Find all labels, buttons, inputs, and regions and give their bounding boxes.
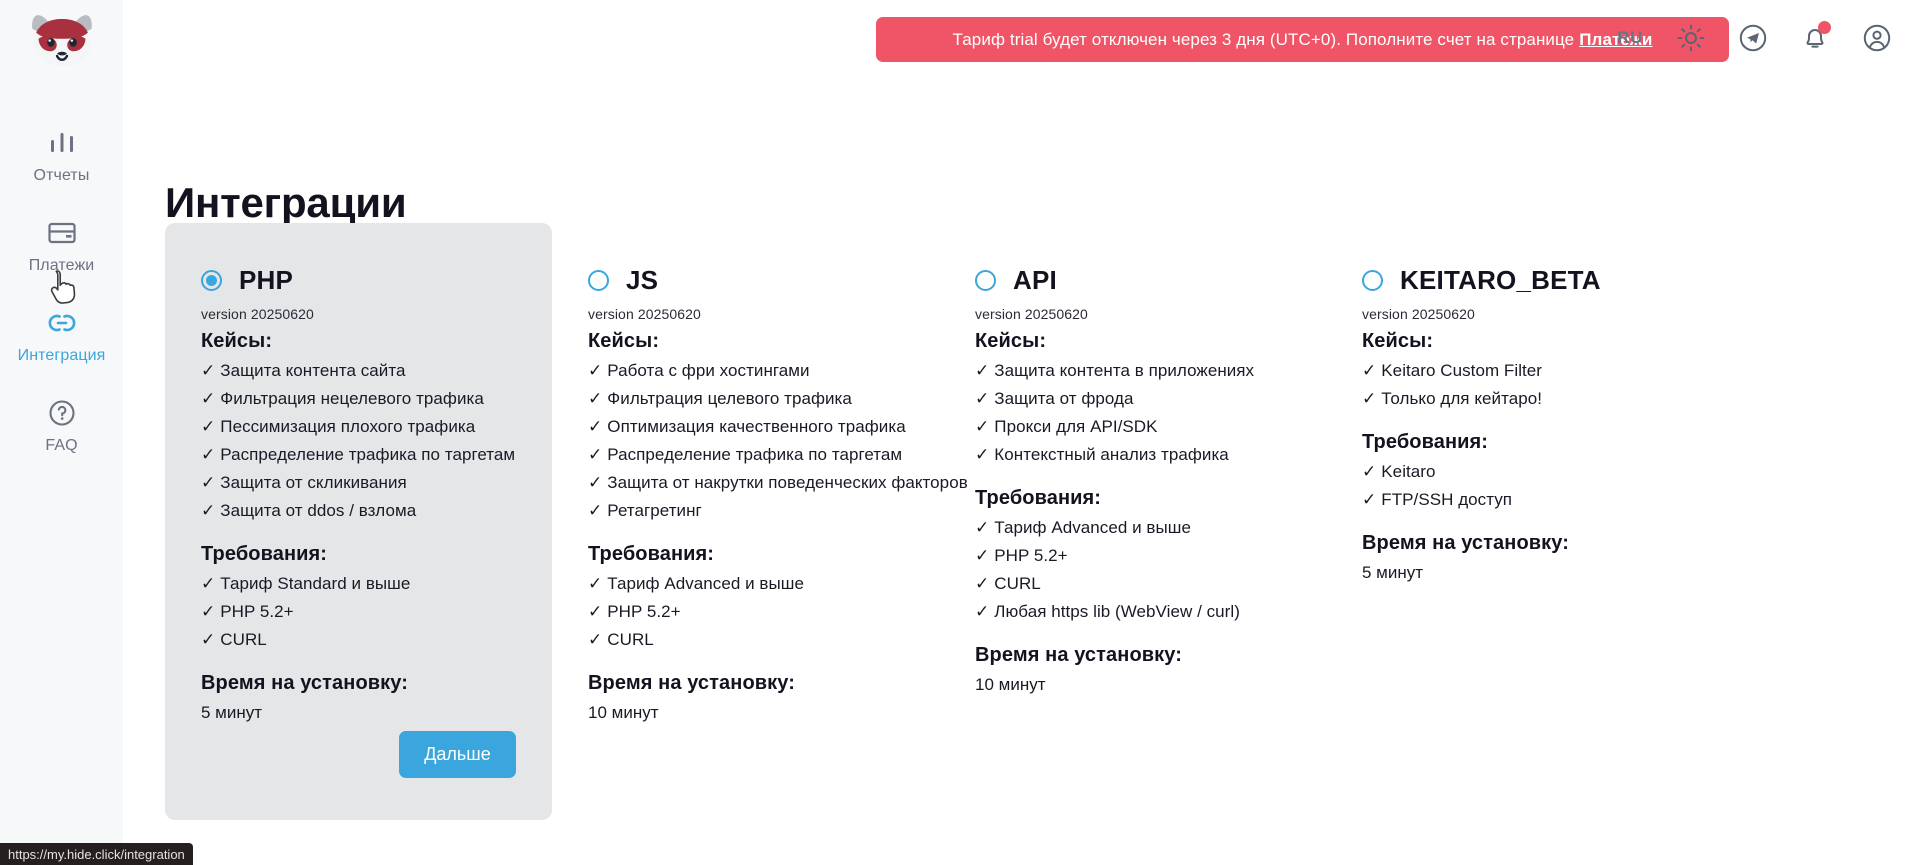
requirement-item: ✓CURL bbox=[588, 630, 903, 650]
requirement-item: ✓PHP 5.2+ bbox=[975, 546, 1290, 566]
case-item: ✓Работа с фри хостингами bbox=[588, 361, 903, 381]
requirement-item: ✓PHP 5.2+ bbox=[201, 602, 516, 622]
link-icon bbox=[45, 306, 79, 340]
card-header: KEITARO_BETA bbox=[1362, 265, 1677, 295]
notification-badge bbox=[1818, 21, 1831, 34]
sidebar-nav: Отчеты Платежи bbox=[0, 110, 123, 470]
case-item: ✓Распределение трафика по таргетам bbox=[588, 445, 903, 465]
case-item: ✓Защита контента сайта bbox=[201, 361, 516, 381]
requirement-item: ✓CURL bbox=[975, 574, 1290, 594]
requirement-item: ✓PHP 5.2+ bbox=[588, 602, 903, 622]
cases-heading: Кейсы: bbox=[201, 330, 516, 353]
question-circle-icon bbox=[45, 396, 79, 430]
sidebar-item-label: Платежи bbox=[29, 257, 95, 275]
card-version: version 20250620 bbox=[1362, 306, 1677, 322]
case-item: ✓Распределение трафика по таргетам bbox=[201, 445, 516, 465]
trial-alert-text: Тариф trial будет отключен через 3 дня (… bbox=[953, 30, 1575, 50]
sidebar-item-reports[interactable]: Отчеты bbox=[0, 110, 123, 200]
language-switcher[interactable]: RU bbox=[1617, 28, 1643, 48]
sidebar-item-label: Отчеты bbox=[34, 167, 90, 185]
integration-card-php[interactable]: PHP version 20250620 Кейсы: ✓Защита конт… bbox=[165, 223, 552, 820]
requirements-heading: Требования: bbox=[201, 543, 516, 566]
card-title: KEITARO_BETA bbox=[1400, 265, 1601, 296]
case-item: ✓Keitaro Custom Filter bbox=[1362, 361, 1677, 381]
card-version: version 20250620 bbox=[201, 306, 516, 322]
radio-php[interactable] bbox=[201, 270, 222, 291]
top-bar: Тариф trial будет отключен через 3 дня (… bbox=[123, 0, 1919, 75]
sidebar-item-integration[interactable]: Интеграция bbox=[0, 290, 123, 380]
install-time-heading: Время на установку: bbox=[1362, 532, 1677, 555]
requirement-item: ✓CURL bbox=[201, 630, 516, 650]
case-item: ✓Контекстный анализ трафика bbox=[975, 445, 1290, 465]
case-item: ✓Пессимизация плохого трафика bbox=[201, 417, 516, 437]
requirement-item: ✓Любая https lib (WebView / curl) bbox=[975, 602, 1290, 622]
app-root: Отчеты Платежи bbox=[0, 0, 1919, 865]
card-icon bbox=[45, 216, 79, 250]
case-item: ✓Защита контента в приложениях bbox=[975, 361, 1290, 381]
case-item: ✓Оптимизация качественного трафика bbox=[588, 417, 903, 437]
install-time-value: 5 минут bbox=[201, 703, 516, 723]
card-header: PHP bbox=[201, 265, 516, 295]
card-title: API bbox=[1013, 265, 1057, 296]
install-time-value: 10 минут bbox=[975, 675, 1290, 695]
case-item: ✓Защита от скликивания bbox=[201, 473, 516, 493]
case-item: ✓Только для кейтаро! bbox=[1362, 389, 1677, 409]
case-item: ✓Защита от фрода bbox=[975, 389, 1290, 409]
requirement-item: ✓Тариф Advanced и выше bbox=[588, 574, 903, 594]
install-time-heading: Время на установку: bbox=[975, 644, 1290, 667]
integration-card-js[interactable]: JS version 20250620 Кейсы: ✓Работа с фри… bbox=[552, 223, 939, 820]
integration-cards: PHP version 20250620 Кейсы: ✓Защита конт… bbox=[165, 223, 1919, 820]
card-header: JS bbox=[588, 265, 903, 295]
top-bar-actions: RU bbox=[1617, 0, 1891, 75]
card-version: version 20250620 bbox=[975, 306, 1290, 322]
install-time-value: 5 минут bbox=[1362, 563, 1677, 583]
requirements-heading: Требования: bbox=[1362, 431, 1677, 454]
requirement-item: ✓Тариф Standard и выше bbox=[201, 574, 516, 594]
case-item: ✓Прокси для API/SDK bbox=[975, 417, 1290, 437]
integration-card-keitaro-beta[interactable]: KEITARO_BETA version 20250620 Кейсы: ✓Ke… bbox=[1326, 223, 1713, 820]
bar-chart-icon bbox=[45, 126, 79, 160]
radio-js[interactable] bbox=[588, 270, 609, 291]
case-item: ✓Ретагретинг bbox=[588, 501, 903, 521]
trial-alert-banner: Тариф trial будет отключен через 3 дня (… bbox=[876, 17, 1729, 62]
telegram-icon[interactable] bbox=[1739, 24, 1767, 52]
card-version: version 20250620 bbox=[588, 306, 903, 322]
install-time-heading: Время на установку: bbox=[588, 672, 903, 695]
sidebar-item-label: Интеграция bbox=[18, 347, 106, 365]
case-item: ✓Фильтрация нецелевого трафика bbox=[201, 389, 516, 409]
theme-sun-icon[interactable] bbox=[1677, 24, 1705, 52]
requirements-heading: Требования: bbox=[588, 543, 903, 566]
radio-keitaro-beta[interactable] bbox=[1362, 270, 1383, 291]
cases-heading: Кейсы: bbox=[1362, 330, 1677, 353]
page-title: Интеграции bbox=[165, 179, 406, 227]
next-button[interactable]: Дальше bbox=[399, 731, 516, 778]
notifications-bell-icon[interactable] bbox=[1801, 24, 1829, 52]
raccoon-logo-icon[interactable] bbox=[25, 10, 99, 70]
install-time-heading: Время на установку: bbox=[201, 672, 516, 695]
user-account-icon[interactable] bbox=[1863, 24, 1891, 52]
sidebar: Отчеты Платежи bbox=[0, 0, 123, 865]
card-header: API bbox=[975, 265, 1290, 295]
install-time-value: 10 минут bbox=[588, 703, 903, 723]
card-title: PHP bbox=[239, 265, 293, 296]
status-bar-url: https://my.hide.click/integration bbox=[0, 843, 193, 865]
requirement-item: ✓Keitaro bbox=[1362, 462, 1677, 482]
case-item: ✓Защита от накрутки поведенческих фактор… bbox=[588, 473, 903, 493]
sidebar-item-label: FAQ bbox=[45, 437, 77, 455]
radio-api[interactable] bbox=[975, 270, 996, 291]
card-title: JS bbox=[626, 265, 658, 296]
requirement-item: ✓FTP/SSH доступ bbox=[1362, 490, 1677, 510]
sidebar-item-faq[interactable]: FAQ bbox=[0, 380, 123, 470]
case-item: ✓Фильтрация целевого трафика bbox=[588, 389, 903, 409]
requirement-item: ✓Тариф Advanced и выше bbox=[975, 518, 1290, 538]
page-content: Интеграции PHP version 20250620 Кейсы: ✓… bbox=[123, 75, 1919, 865]
cases-heading: Кейсы: bbox=[588, 330, 903, 353]
requirements-heading: Требования: bbox=[975, 487, 1290, 510]
sidebar-item-payments[interactable]: Платежи bbox=[0, 200, 123, 290]
integration-card-api[interactable]: API version 20250620 Кейсы: ✓Защита конт… bbox=[939, 223, 1326, 820]
case-item: ✓Защита от ddos / взлома bbox=[201, 501, 516, 521]
cases-heading: Кейсы: bbox=[975, 330, 1290, 353]
